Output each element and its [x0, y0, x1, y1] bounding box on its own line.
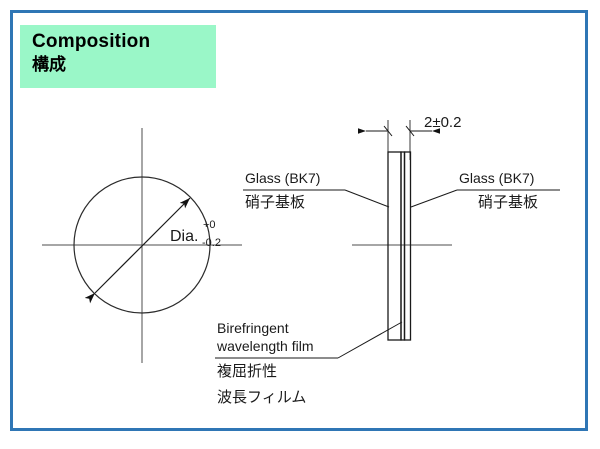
diameter-label: Dia.	[170, 228, 198, 246]
page-title-jp: 構成	[32, 54, 216, 76]
glass-left-label-jp: 硝子基板	[245, 193, 305, 212]
glass-right-label-en: Glass (BK7)	[459, 170, 534, 187]
film-label-jp-line1: 複屈折性	[217, 362, 277, 381]
tolerance-upper: +0	[203, 220, 216, 231]
film-label-en-line1: Birefringent	[217, 320, 289, 337]
tolerance-lower: -0.2	[202, 238, 221, 249]
film-label-jp-line2: 波長フィルム	[217, 388, 306, 407]
glass-right-label-jp: 硝子基板	[478, 193, 538, 212]
thickness-dimension-label: 2±0.2	[424, 114, 461, 131]
film-label-en-line2: wavelength film	[217, 338, 314, 355]
page-title-en: Composition	[32, 30, 216, 54]
composition-drawing-page: Composition 構成	[0, 0, 600, 449]
glass-left-label-en: Glass (BK7)	[245, 170, 320, 187]
title-box: Composition 構成	[20, 25, 216, 88]
